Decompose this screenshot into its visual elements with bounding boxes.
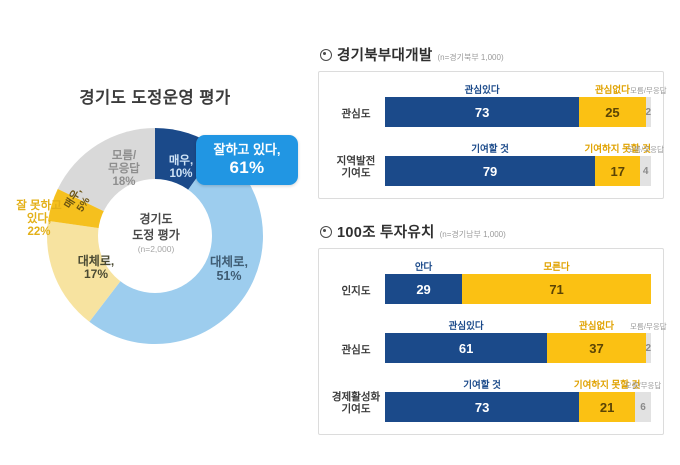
bar-charts-panel: 경기북부대개발(n=경기북부 1,000)관심도관심있다관심없다모름/무응답73… — [318, 0, 680, 465]
bar-segment-legend: 관심있다 — [449, 318, 484, 332]
callout-value: 61% — [230, 158, 265, 178]
donut-label-mostly-bad: 대체로, 17% — [68, 255, 124, 282]
bar-row: 관심도관심있다관심없다모름/무응답73252 — [327, 82, 651, 127]
bar-area: 기여할 것기여하지 못할 것모름/무응답79174 — [385, 141, 651, 186]
donut-label-mostly-good: 대체로, 51% — [200, 255, 258, 283]
bar-row-label: 관심도 — [327, 344, 385, 363]
bar-segment-value: 17 — [595, 156, 640, 186]
bar-segment-value: 37 — [547, 333, 645, 363]
bar-area: 관심있다관심없다모름/무응답61372 — [385, 318, 651, 363]
bullet-icon — [320, 49, 332, 61]
bar-segment-legend: 안다 — [415, 259, 432, 273]
bar-segment-value: 21 — [579, 392, 635, 422]
bar-segment-value: 73 — [385, 97, 579, 127]
bar-segment-legend: 관심없다 — [595, 82, 630, 96]
section-header: 경기북부대개발(n=경기북부 1,000) — [318, 44, 664, 65]
section-sample-size: (n=경기남부 1,000) — [440, 229, 506, 240]
bar-segment-value: 29 — [385, 274, 462, 304]
bar-row: 경제활성화 기여도기여할 것기여하지 못할 것모름/무응답73216 — [327, 377, 651, 422]
bar-area: 관심있다관심없다모름/무응답73252 — [385, 82, 651, 127]
bar-row-label: 경제활성화 기여도 — [327, 391, 385, 422]
donut-center-line1: 경기도 — [106, 212, 206, 228]
bar-segment-legend: 모름/무응답 — [630, 321, 667, 332]
stacked-bar: 61372 — [385, 333, 651, 363]
bar-segment-value: 61 — [385, 333, 547, 363]
bar-legend: 기여할 것기여하지 못할 것모름/무응답 — [385, 141, 651, 155]
donut-center-line2: 도정 평가 — [106, 228, 206, 244]
stacked-bar: 79174 — [385, 156, 651, 186]
stacked-bar: 73216 — [385, 392, 651, 422]
bar-row: 인지도안다모른다2971 — [327, 259, 651, 304]
bar-segment-value: 2 — [646, 333, 651, 363]
bar-segment-value: 71 — [462, 274, 651, 304]
bullet-icon — [320, 226, 332, 238]
stacked-bar: 2971 — [385, 274, 651, 304]
bar-row-label: 인지도 — [327, 285, 385, 304]
bar-row: 관심도관심있다관심없다모름/무응답61372 — [327, 318, 651, 363]
section-sample-size: (n=경기북부 1,000) — [437, 52, 503, 63]
bar-legend: 안다모른다 — [385, 259, 651, 273]
bar-area: 안다모른다2971 — [385, 259, 651, 304]
section-header: 100조 투자유치(n=경기남부 1,000) — [318, 221, 664, 242]
donut-label-negative-total: 잘 못하고 있다, 22% — [4, 200, 74, 239]
donut-chart-panel: 경기도 도정운영 평가 모름/ 무응답 18% 매우, 10% 대체로, 51%… — [0, 0, 310, 465]
section-body: 관심도관심있다관심없다모름/무응답73252지역발전 기여도기여할 것기여하지 … — [318, 71, 664, 199]
callout-label: 잘하고 있다, — [213, 143, 280, 158]
stacked-bar: 73252 — [385, 97, 651, 127]
bar-row-label: 지역발전 기여도 — [327, 155, 385, 186]
section-north-gyeonggi: 경기북부대개발(n=경기북부 1,000)관심도관심있다관심없다모름/무응답73… — [318, 44, 664, 199]
bar-segment-value: 6 — [635, 392, 651, 422]
section-body: 인지도안다모른다2971관심도관심있다관심없다모름/무응답61372경제활성화 … — [318, 248, 664, 435]
donut-sample-size: (n=2,000) — [106, 244, 206, 255]
bar-legend: 관심있다관심없다모름/무응답 — [385, 82, 651, 96]
bar-segment-legend: 모름/무응답 — [625, 380, 662, 391]
section-investment: 100조 투자유치(n=경기남부 1,000)인지도안다모른다2971관심도관심… — [318, 221, 664, 435]
bar-segment-value: 25 — [579, 97, 646, 127]
bar-legend: 기여할 것기여하지 못할 것모름/무응답 — [385, 377, 651, 391]
bar-legend: 관심있다관심없다모름/무응답 — [385, 318, 651, 332]
bar-area: 기여할 것기여하지 못할 것모름/무응답73216 — [385, 377, 651, 422]
bar-segment-legend: 모른다 — [543, 259, 569, 273]
donut-label-dont-know: 모름/ 무응답 18% — [96, 150, 152, 189]
page-title: 경기도 도정운영 평가 — [0, 84, 310, 108]
section-title: 경기북부대개발 — [337, 44, 432, 65]
bar-segment-legend: 기여할 것 — [463, 377, 501, 391]
donut-center-label: 경기도 도정 평가 (n=2,000) — [106, 212, 206, 255]
bar-segment-legend: 모름/무응답 — [630, 85, 667, 96]
bar-segment-legend: 관심없다 — [579, 318, 614, 332]
bar-segment-value: 73 — [385, 392, 579, 422]
bar-segment-legend: 모름/무응답 — [627, 144, 664, 155]
positive-total-callout: 잘하고 있다, 61% — [196, 135, 298, 185]
bar-segment-value: 4 — [640, 156, 651, 186]
bar-segment-legend: 기여할 것 — [471, 141, 509, 155]
bar-row: 지역발전 기여도기여할 것기여하지 못할 것모름/무응답79174 — [327, 141, 651, 186]
bar-segment-value: 79 — [385, 156, 595, 186]
bar-segment-value: 2 — [646, 97, 651, 127]
bar-row-label: 관심도 — [327, 108, 385, 127]
bar-segment-legend: 관심있다 — [465, 82, 500, 96]
section-title: 100조 투자유치 — [337, 221, 435, 242]
